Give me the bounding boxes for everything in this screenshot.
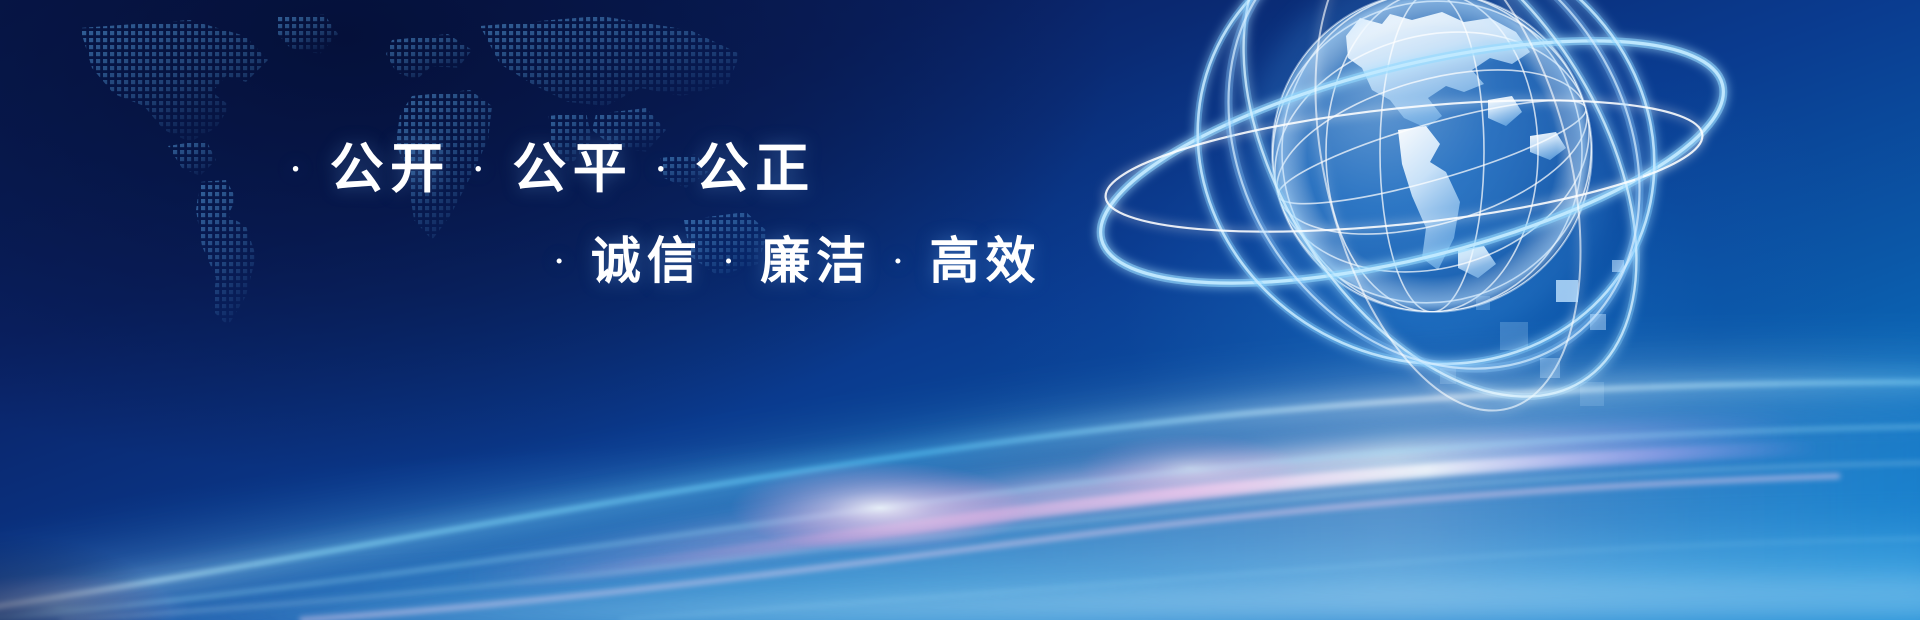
bullet-separator-icon: · (721, 243, 741, 278)
slogan-word-gongping: 公平 (512, 139, 633, 199)
slogan-word-gongkai: 公开 (330, 139, 451, 199)
bullet-separator-icon: · (471, 151, 493, 188)
slogan-line-1: · 公开 · 公平 · 公正 (288, 142, 816, 196)
slogan-word-chengxin: 诚信 (591, 233, 703, 289)
light-wave-graphic (0, 290, 1920, 620)
slogan-word-gaoxiao: 高效 (930, 233, 1042, 289)
bullet-separator-icon: · (288, 151, 310, 188)
bullet-separator-icon: · (552, 243, 572, 278)
bottom-left-shadow (0, 500, 240, 620)
slogan-line-2: · 诚信 · 廉洁 · 高效 (552, 236, 1042, 286)
bullet-separator-icon: · (653, 151, 675, 188)
bullet-separator-icon: · (891, 243, 911, 278)
banner-canvas: · 公开 · 公平 · 公正 · 诚信 · 廉洁 · 高效 (0, 0, 1920, 620)
slogan-word-gongzheng: 公正 (695, 139, 816, 199)
slogan-word-lianjie: 廉洁 (760, 233, 872, 289)
